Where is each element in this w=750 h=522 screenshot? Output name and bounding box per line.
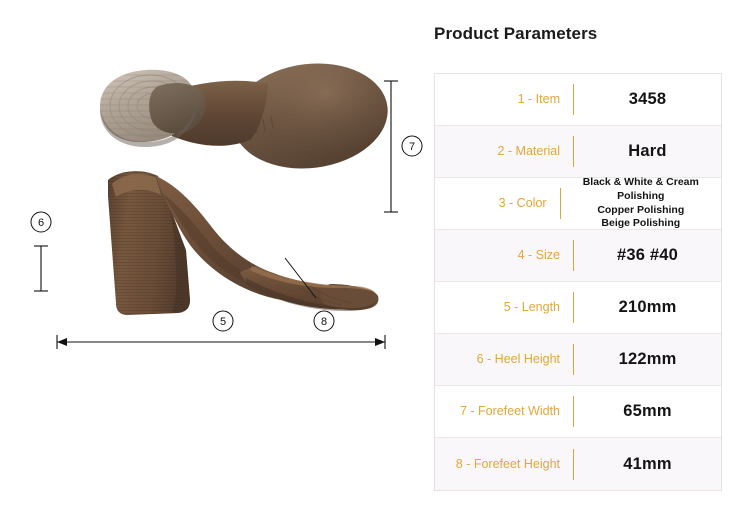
- callout-6-label: 6: [38, 217, 44, 229]
- param-value-length: 210mm: [574, 298, 721, 317]
- param-label-color: 3 - Color: [435, 196, 560, 211]
- callout-5: [57, 335, 385, 349]
- param-value-forefeet-width: 65mm: [574, 402, 721, 421]
- sole-view-image: [100, 55, 394, 177]
- color-option-1: Black & White & Cream Polishing: [567, 176, 715, 204]
- table-row: 4 - Size #36 #40: [435, 230, 721, 282]
- param-value-item: 3458: [574, 90, 721, 109]
- callout-5-marker: 5: [213, 311, 233, 331]
- table-row: 1 - Item 3458: [435, 74, 721, 126]
- callout-8-label: 8: [321, 316, 327, 328]
- callout-6: [34, 246, 48, 291]
- color-option-2: Copper Polishing: [567, 204, 715, 218]
- callout-7-label: 7: [409, 141, 415, 153]
- param-label-forefeet-height: 8 - Forefeet Height: [435, 457, 573, 472]
- callout-7-marker: 7: [402, 136, 422, 156]
- table-row: 5 - Length 210mm: [435, 282, 721, 334]
- table-row: 2 - Material Hard: [435, 126, 721, 178]
- param-value-size: #36 #40: [574, 246, 721, 265]
- table-row: 6 - Heel Height 122mm: [435, 334, 721, 386]
- callout-6-marker: 6: [31, 212, 51, 232]
- param-value-forefeet-height: 41mm: [574, 455, 721, 474]
- product-parameters-panel: Product Parameters 1 - Item 3458 2 - Mat…: [430, 0, 750, 522]
- param-value-material: Hard: [574, 142, 721, 161]
- product-detail-page: 7 6 5: [0, 0, 750, 522]
- param-label-size: 4 - Size: [435, 248, 573, 263]
- callout-5-label: 5: [220, 316, 226, 328]
- param-label-forefeet-width: 7 - Forefeet Width: [435, 404, 573, 419]
- table-row: 3 - Color Black & White & Cream Polishin…: [435, 178, 721, 230]
- param-label-heel-height: 6 - Heel Height: [435, 352, 573, 367]
- param-value-heel-height: 122mm: [574, 350, 721, 369]
- product-diagram-panel: 7 6 5: [0, 0, 430, 522]
- parameters-table: 1 - Item 3458 2 - Material Hard 3 - Colo…: [434, 73, 722, 491]
- param-value-color: Black & White & Cream Polishing Copper P…: [561, 176, 721, 232]
- product-figure: 7 6 5: [0, 0, 430, 522]
- table-row: 7 - Forefeet Width 65mm: [435, 386, 721, 438]
- param-label-item: 1 - Item: [435, 92, 573, 107]
- page-title: Product Parameters: [434, 24, 597, 44]
- profile-view-image: [104, 164, 378, 315]
- table-row: 8 - Forefeet Height 41mm: [435, 438, 721, 490]
- callout-8-marker: 8: [314, 311, 334, 331]
- param-label-length: 5 - Length: [435, 300, 573, 315]
- param-label-material: 2 - Material: [435, 144, 573, 159]
